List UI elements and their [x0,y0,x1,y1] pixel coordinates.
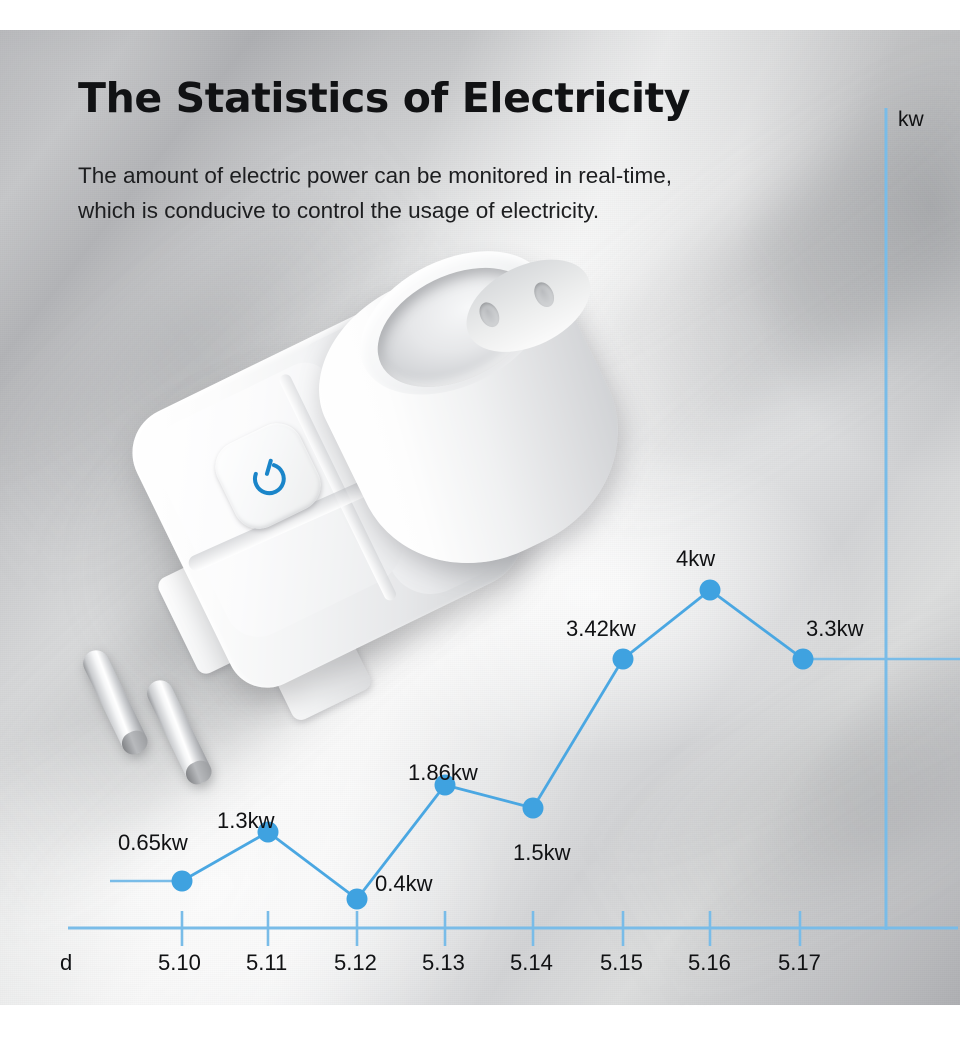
y-axis-unit-label: kw [898,108,924,132]
plug-prong [143,676,215,788]
page-subtitle: The amount of electric power can be moni… [78,158,898,228]
plug-prong-tip [182,757,215,788]
subtitle-line-2: which is conducive to control the usage … [78,193,898,228]
plug-prong-tip [118,727,151,758]
data-point-label-6: 4kw [676,546,715,572]
data-point-label-7: 3.3kw [806,616,863,642]
x-tick-label-2: 5.12 [334,950,377,976]
x-tick-label-3: 5.13 [422,950,465,976]
power-icon [237,445,299,507]
data-point-label-5: 3.42kw [566,616,636,642]
x-tick-label-6: 5.16 [688,950,731,976]
x-tick-label-7: 5.17 [778,950,821,976]
x-tick-label-0: 5.10 [158,950,201,976]
data-point-label-1: 1.3kw [217,808,274,834]
data-point-label-3: 1.86kw [408,760,478,786]
smart-plug-image [70,248,630,788]
x-tick-label-5: 5.15 [600,950,643,976]
page-title: The Statistics of Electricity [78,74,690,122]
promo-banner: The Statistics of Electricity The amount… [0,0,960,1062]
x-axis-unit-label: d [60,950,72,976]
x-tick-label-1: 5.11 [246,950,287,976]
data-point-label-2: 0.4kw [375,871,432,897]
data-point-label-4: 1.5kw [513,840,570,866]
data-point-label-0: 0.65kw [118,830,188,856]
x-tick-label-4: 5.14 [510,950,553,976]
plug-prong [79,646,151,758]
subtitle-line-1: The amount of electric power can be moni… [78,158,898,193]
